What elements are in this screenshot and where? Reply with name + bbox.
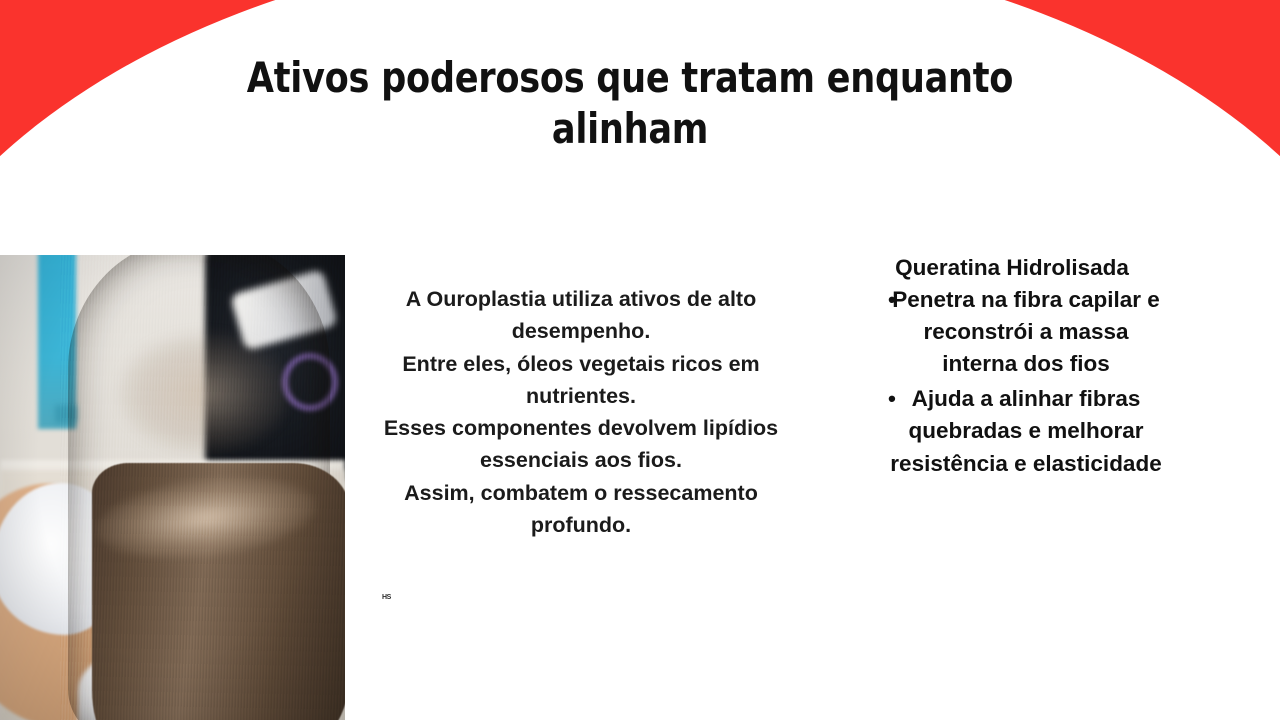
center-line: A Ouroplastia utiliza ativos de alto [360,283,802,315]
center-line: Esses componentes devolvem lipídios [360,412,802,444]
center-line: nutrientes. [360,380,802,412]
list-item: • Penetra na fibra capilar e reconstrói … [862,284,1162,381]
page-title: Ativos poderosos que tratam enquanto ali… [221,52,1039,154]
list-item-label: Ajuda a alinhar fibras quebradas e melho… [862,383,1162,480]
center-line: essenciais aos fios. [360,444,802,476]
center-line: Assim, combatem o ressecamento [360,477,802,509]
photo-vignette [0,255,345,720]
center-line: profundo. [360,509,802,541]
center-text-column: A Ouroplastia utiliza ativos de alto des… [360,283,802,541]
hair-photo [0,255,345,720]
center-line: desempenho. [360,315,802,347]
center-line: Entre eles, óleos vegetais ricos em [360,348,802,380]
bullet-icon: • [888,284,896,316]
list-item-label: Penetra na fibra capilar e reconstrói a … [862,284,1162,381]
bullet-icon: • [888,383,896,415]
right-text-column: Queratina Hidrolisada • Penetra na fibra… [862,253,1162,482]
watermark-label: HS [382,594,391,601]
right-column-heading: Queratina Hidrolisada [862,253,1162,283]
benefits-list: • Penetra na fibra capilar e reconstrói … [862,284,1162,480]
slide: Ativos poderosos que tratam enquanto ali… [0,0,1280,720]
list-item: • Ajuda a alinhar fibras quebradas e mel… [862,383,1162,480]
